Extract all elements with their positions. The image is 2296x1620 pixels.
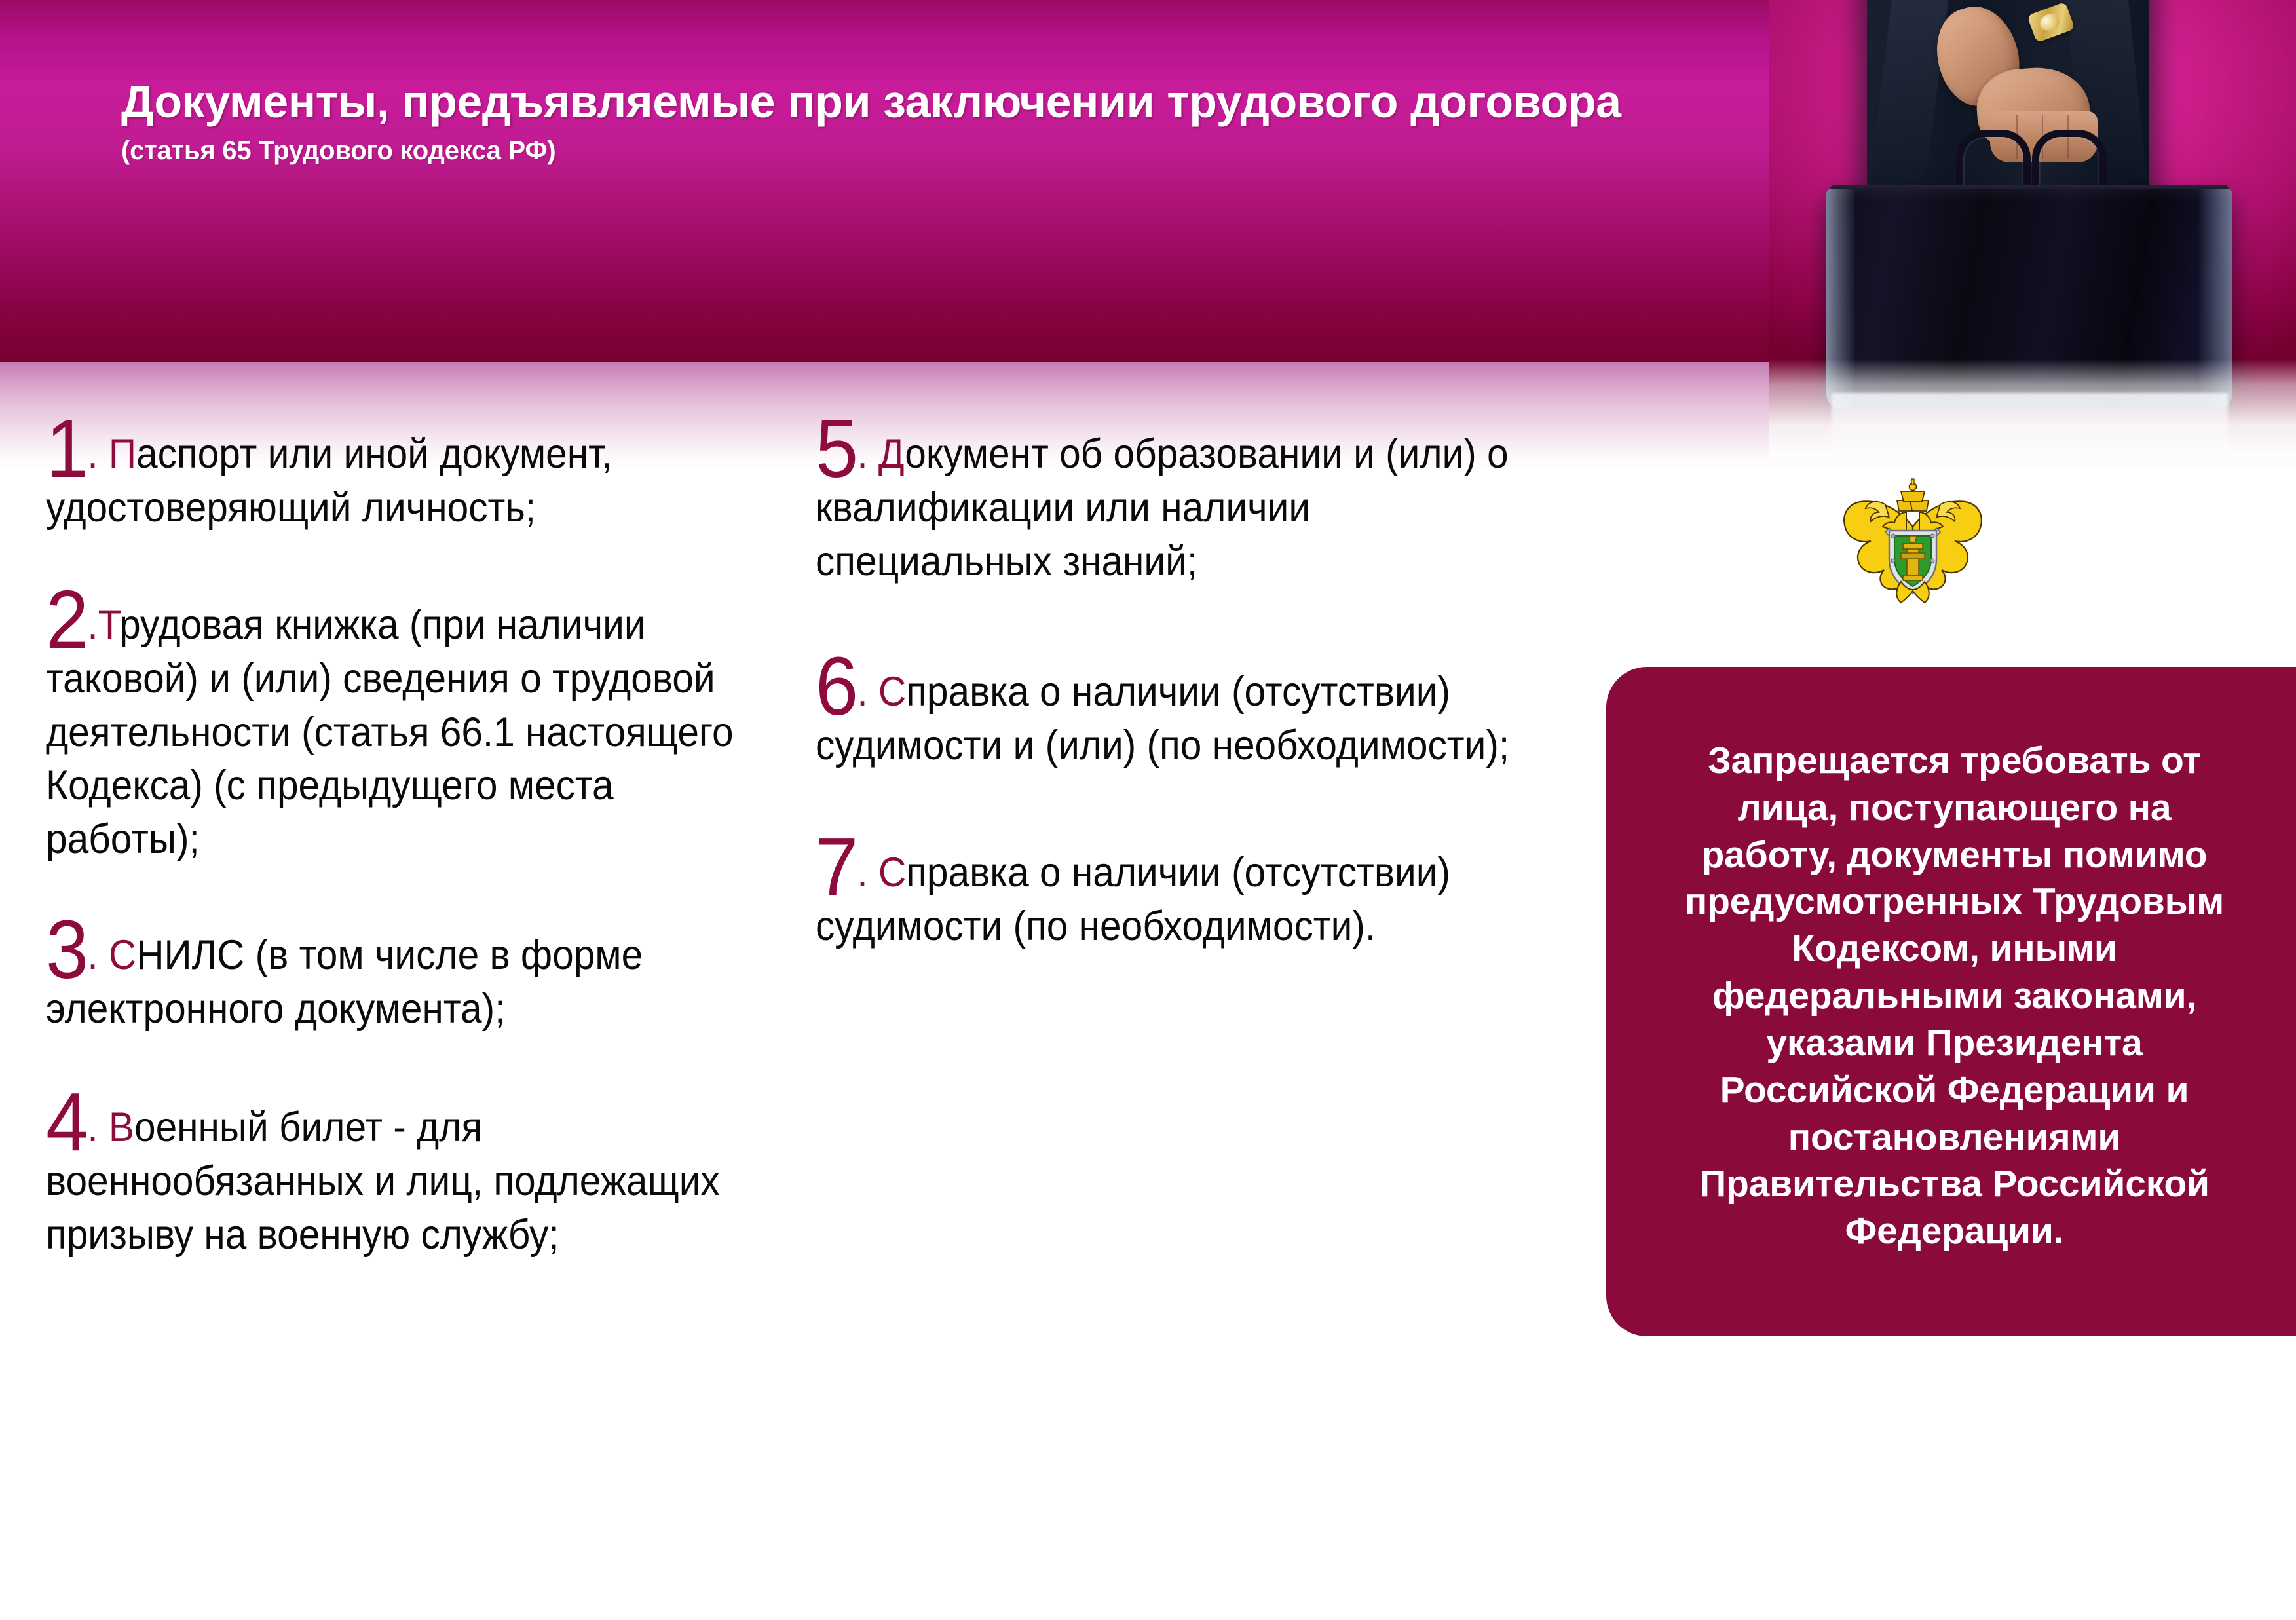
item-number: 1 [46, 402, 87, 495]
item-lead-letter: Д [878, 431, 905, 477]
item-lead-letter: Т [98, 602, 120, 648]
photo-white-fade [1769, 359, 2296, 459]
item-number: 4 [46, 1076, 87, 1168]
item-text: окумент об образовании и (или) о квалифи… [816, 431, 1509, 584]
item-lead-letter: С [878, 850, 906, 895]
item-number-dot: . [857, 669, 867, 715]
item-number-dot: . [87, 602, 98, 648]
list-column-right: 5. Документ об образовании и (или) о ква… [816, 419, 1523, 984]
item-number: 6 [816, 640, 857, 732]
item-number: 3 [46, 903, 87, 996]
list-item: 1. Паспорт или иной документ, удостоверя… [46, 419, 757, 535]
prosecutor-general-office-emblem-icon [1838, 476, 1987, 607]
item-lead-letter: В [109, 1104, 134, 1150]
item-number: 7 [816, 821, 857, 913]
item-lead-letter: С [109, 932, 136, 978]
list-item: 5. Документ об образовании и (или) о ква… [816, 419, 1520, 589]
title-block: Документы, предъявляемые при заключении … [121, 77, 1693, 166]
item-number: 5 [816, 402, 857, 495]
page-title: Документы, предъявляемые при заключении … [121, 77, 1693, 126]
poster-root: Документы, предъявляемые при заключении … [0, 0, 2296, 1620]
item-number-dot: . [857, 431, 867, 477]
item-lead-letter: С [878, 669, 906, 715]
item-text: правка о наличии (отсутствии) судимости … [816, 850, 1450, 949]
item-number-dot: . [857, 850, 867, 895]
list-column-left: 1. Паспорт или иной документ, удостоверя… [46, 419, 760, 1292]
item-number: 2 [46, 573, 87, 666]
item-text: оенный билет - для военнообязанных и лиц… [46, 1104, 720, 1258]
item-number-dot: . [87, 932, 98, 978]
list-item: 6. Справка о наличии (отсутствии) судимо… [816, 657, 1520, 773]
item-number-dot: . [87, 431, 98, 477]
header-photo [1769, 0, 2296, 459]
list-item: 3. СНИЛС (в том числе в форме электронно… [46, 920, 757, 1036]
list-item: 4. Военный билет - для военнообязанных и… [46, 1093, 757, 1262]
page-subtitle: (статья 65 Трудового кодекса РФ) [121, 136, 1693, 166]
item-text: правка о наличии (отсутствии) судимости … [816, 669, 1509, 768]
list-item: 2.Трудовая книжка (при наличии таковой) … [46, 590, 757, 867]
prohibition-callout-box: Запрещается требовать от лица, поступающ… [1606, 667, 2296, 1336]
item-text: рудовая книжка (при наличии таковой) и (… [46, 602, 734, 863]
list-item: 7. Справка о наличии (отсутствии) судимо… [816, 838, 1520, 954]
item-number-dot: . [87, 1104, 98, 1150]
callout-text: Запрещается требовать от лица, поступающ… [1666, 738, 2242, 1255]
item-lead-letter: П [109, 431, 136, 477]
